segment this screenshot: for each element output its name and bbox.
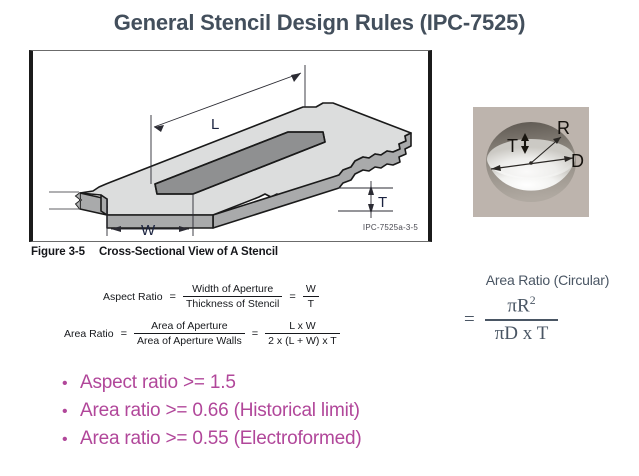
page-title: General Stencil Design Rules (IPC-7525) [0, 10, 639, 36]
fraction-bar [485, 319, 559, 321]
aspect-equals-2: = [289, 291, 295, 303]
circular-numerator: πR2 [497, 294, 545, 317]
aspect-result-denominator: T [305, 297, 317, 310]
bullet-icon: • [62, 432, 80, 448]
area-numerator: Area of Aperture [148, 320, 230, 333]
aspect-fraction: Width of Aperture Thickness of Stencil [183, 283, 282, 311]
figure-caption-number: Figure 3-5 [31, 246, 85, 258]
figure-caption-text: Cross-Sectional View of A Stencil [99, 246, 278, 258]
aspect-result-numerator: W [303, 283, 319, 296]
aspect-equals-1: = [170, 291, 176, 303]
aspect-numerator: Width of Aperture [189, 283, 276, 296]
circular-equals: = [464, 309, 475, 331]
label-thickness: T [378, 194, 387, 211]
area-result-numerator: L x W [286, 320, 318, 333]
circular-denominator: πD x T [485, 323, 559, 345]
circular-numerator-exponent: 2 [530, 294, 536, 307]
circular-area-ratio-block: Area Ratio (Circular) = πR2 πD x T [456, 272, 639, 345]
circular-area-ratio-title: Area Ratio (Circular) [456, 272, 639, 288]
list-item-label: Aspect ratio >= 1.5 [80, 372, 236, 394]
circular-aperture-drawing: R D T [473, 107, 589, 217]
label-thickness-circular: T [507, 136, 518, 156]
bullet-icon: • [62, 404, 80, 420]
circular-fraction: πR2 πD x T [485, 294, 559, 345]
label-diameter: D [571, 151, 584, 171]
list-item: • Aspect ratio >= 1.5 [62, 372, 582, 394]
circular-numerator-base: πR [507, 295, 529, 316]
slide-root: General Stencil Design Rules (IPC-7525) [0, 0, 639, 476]
list-item: • Area ratio >= 0.55 (Electroformed) [62, 428, 582, 450]
list-item-label: Area ratio >= 0.66 (Historical limit) [80, 400, 360, 422]
design-rules-bullet-list: • Aspect ratio >= 1.5 • Area ratio >= 0.… [62, 372, 582, 456]
stencil-isometric-drawing: L W T [33, 51, 428, 241]
area-denominator: Area of Aperture Walls [134, 334, 245, 347]
stencil-figure-box: L W T IPC-7525a-3-5 [29, 50, 432, 242]
circular-area-ratio-formula: = πR2 πD x T [456, 294, 639, 345]
aspect-ratio-formula: Aspect Ratio = Width of Aperture Thickne… [103, 283, 319, 311]
list-item: • Area ratio >= 0.66 (Historical limit) [62, 400, 582, 422]
bullet-icon: • [62, 376, 80, 392]
aspect-denominator: Thickness of Stencil [183, 297, 282, 310]
area-equals-1: = [121, 328, 127, 340]
figure-caption: Figure 3-5Cross-Sectional View of A Sten… [31, 246, 278, 258]
label-width: W [141, 222, 156, 239]
list-item-label: Area ratio >= 0.55 (Electroformed) [80, 428, 362, 450]
area-ratio-label: Area Ratio [64, 328, 114, 340]
aspect-result-fraction: W T [303, 283, 319, 311]
area-result-denominator: 2 x (L + W) x T [265, 334, 340, 347]
figure-source-code: IPC-7525a-3-5 [363, 223, 418, 232]
label-radius: R [557, 118, 570, 138]
circular-aperture-figure: R D T [473, 107, 589, 217]
area-equals-2: = [252, 328, 258, 340]
aspect-ratio-label: Aspect Ratio [103, 291, 163, 303]
area-ratio-formula: Area Ratio = Area of Aperture Area of Ap… [64, 320, 340, 348]
label-length: L [211, 116, 219, 133]
area-fraction: Area of Aperture Area of Aperture Walls [134, 320, 245, 348]
area-result-fraction: L x W 2 x (L + W) x T [265, 320, 340, 348]
